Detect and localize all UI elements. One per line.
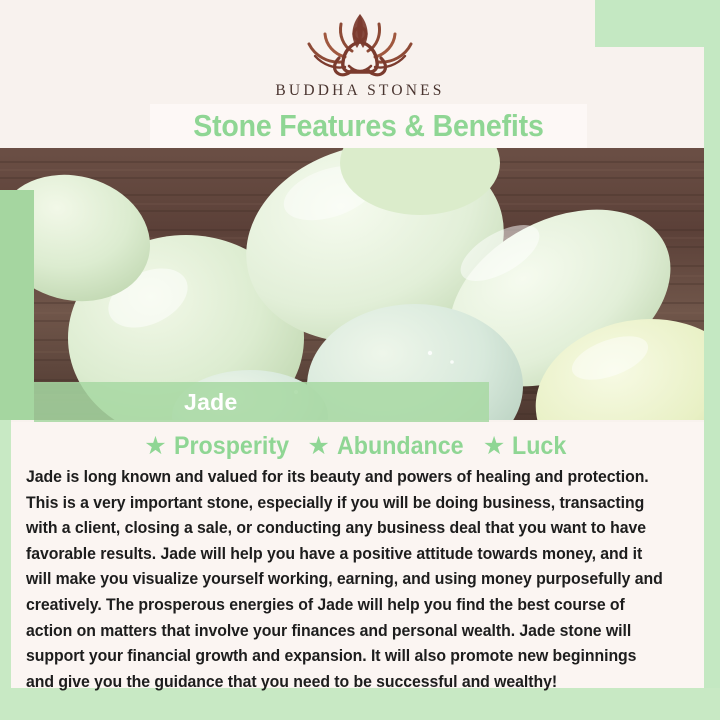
benefit-item: ★ Luck [483,432,571,461]
frame-accent-right [704,0,720,720]
header-banner: Stone Features & Benefits [150,104,587,148]
content-panel: ★ Prosperity ★ Abundance ★ Luck Jade is … [11,422,704,688]
brand-name: BUDDHA STONES [0,82,720,100]
jade-stones-image [0,148,704,420]
stone-name: Jade [184,389,238,416]
lotus-meditation-icon [295,8,425,80]
star-icon: ★ [307,434,329,459]
stone-description: Jade is long known and valued for its be… [26,465,668,695]
benefit-label: Prosperity [174,432,289,461]
benefit-item: ★ Abundance [307,432,473,461]
benefits-row: ★ Prosperity ★ Abundance ★ Luck [11,422,704,461]
stone-name-band: Jade [34,382,489,422]
stone-photo [0,148,704,420]
benefit-item: ★ Prosperity [144,432,297,461]
frame-accent-photo-left [0,190,34,420]
brand-logo: BUDDHA STONES [0,8,720,100]
star-icon: ★ [483,434,505,459]
benefit-label: Abundance [337,432,464,461]
benefit-label: Luck [512,432,566,461]
page-title: Stone Features & Benefits [193,108,543,144]
star-icon: ★ [144,434,166,459]
frame-accent-left [0,420,11,720]
product-info-card: BUDDHA STONES Stone Features & Benefits [0,0,720,720]
